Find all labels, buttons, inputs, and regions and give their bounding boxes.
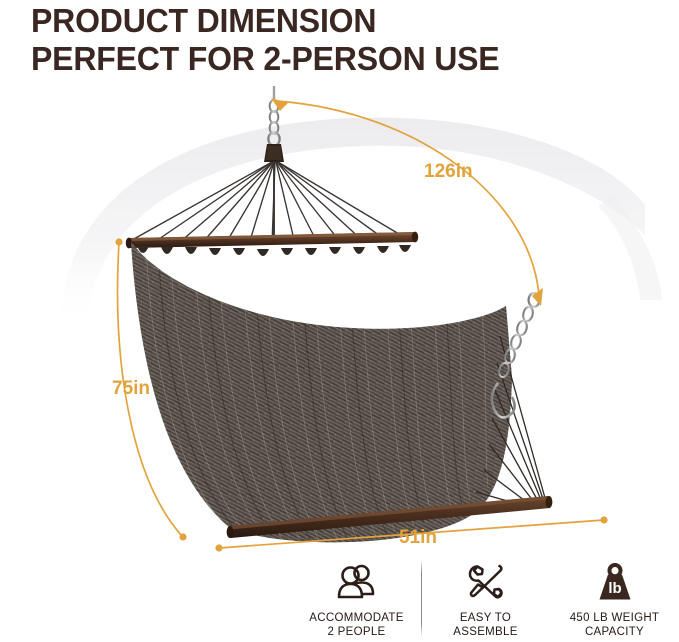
- feature-accommodate-line-2: 2 PEOPLE: [309, 625, 403, 639]
- product-dimension-infographic: PRODUCT DIMENSION PERFECT FOR 2-PERSON U…: [0, 0, 679, 642]
- dimension-line-126in: [271, 98, 543, 306]
- suspension-cords: [132, 162, 409, 244]
- feature-weight-capacity-line-2: CAPACITY: [570, 625, 660, 639]
- hammock-illustration: [0, 78, 679, 558]
- weight-lb-icon: lb: [595, 559, 635, 605]
- top-chain: [268, 86, 279, 146]
- feature-easy-assemble-line-2: ASSEMBLE: [453, 625, 517, 639]
- weight-unit-text: lb: [608, 580, 621, 597]
- dimension-label-75in: 75in: [112, 378, 150, 400]
- title-line-2: PERFECT FOR 2-PERSON USE: [31, 40, 632, 78]
- title-line-1: PRODUCT DIMENSION: [31, 2, 632, 40]
- feature-weight-capacity: lb 450 LB WEIGHT CAPACITY: [550, 557, 679, 642]
- feature-weight-capacity-line-1: 450 LB WEIGHT: [570, 611, 660, 625]
- dimension-label-126in: 126in: [424, 161, 473, 183]
- rope-gather-collar: [264, 144, 284, 162]
- feature-easy-assemble: EASY TO ASSEMBLE: [421, 557, 550, 642]
- dimension-label-51in: 51in: [399, 527, 437, 549]
- page-title: PRODUCT DIMENSION PERFECT FOR 2-PERSON U…: [31, 2, 651, 78]
- feature-easy-assemble-line-1: EASY TO: [453, 611, 517, 625]
- wrench-screwdriver-icon: [466, 559, 506, 605]
- feature-weight-capacity-text: 450 LB WEIGHT CAPACITY: [570, 611, 660, 639]
- feature-strip: ACCOMMODATE 2 PEOPLE: [292, 557, 679, 642]
- hammock-drawing: [0, 78, 679, 558]
- two-people-icon: [336, 559, 378, 605]
- feature-accommodate: ACCOMMODATE 2 PEOPLE: [292, 557, 421, 642]
- feature-easy-assemble-text: EASY TO ASSEMBLE: [453, 611, 517, 639]
- feature-accommodate-text: ACCOMMODATE 2 PEOPLE: [309, 611, 403, 639]
- feature-accommodate-line-1: ACCOMMODATE: [309, 611, 403, 625]
